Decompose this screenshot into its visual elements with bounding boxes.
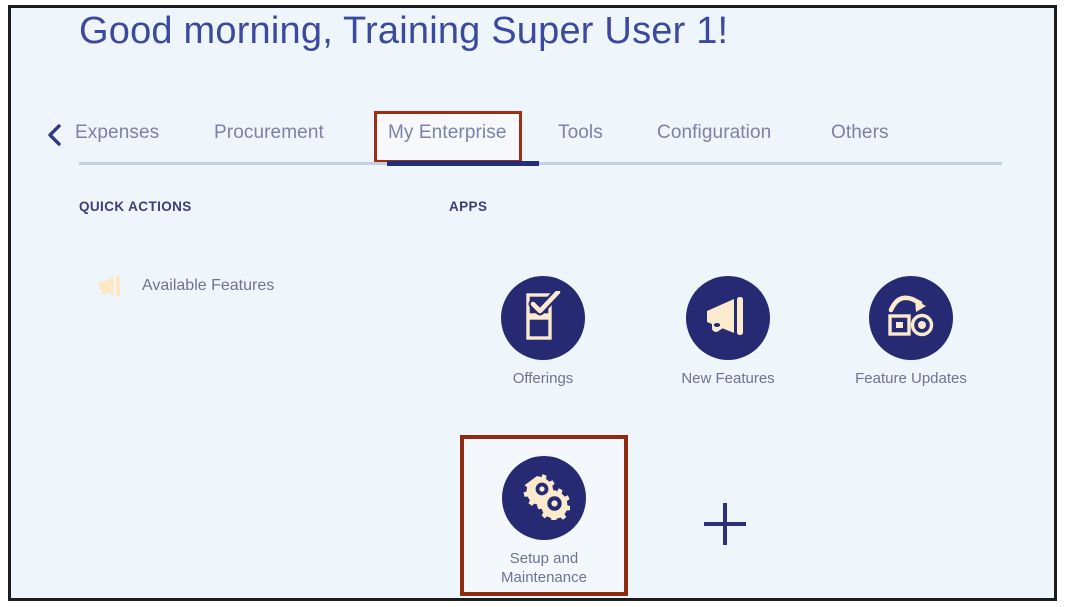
app-label-line-1: Setup and bbox=[466, 549, 622, 568]
tab-configuration[interactable]: Configuration bbox=[655, 118, 773, 148]
checklist-icon bbox=[521, 291, 565, 346]
app-label-line-2: Maintenance bbox=[466, 568, 622, 587]
navigation-tabbar: Expenses Procurement My Enterprise Tools… bbox=[11, 108, 1054, 170]
app-icon-circle bbox=[501, 276, 585, 360]
app-tile-offerings[interactable]: Offerings bbox=[465, 276, 621, 388]
megaphone-icon bbox=[703, 295, 753, 342]
refresh-shapes-icon bbox=[885, 293, 937, 344]
megaphone-icon bbox=[91, 266, 133, 306]
quick-action-available-features[interactable]: Available Features bbox=[91, 266, 274, 306]
app-label: New Features bbox=[650, 369, 806, 388]
active-tab-indicator bbox=[387, 161, 539, 166]
tab-expenses[interactable]: Expenses bbox=[73, 118, 161, 148]
app-icon-circle bbox=[869, 276, 953, 360]
tab-procurement[interactable]: Procurement bbox=[212, 118, 326, 148]
add-app-button[interactable] bbox=[699, 498, 751, 550]
app-label: Offerings bbox=[465, 369, 621, 388]
tab-tools[interactable]: Tools bbox=[556, 118, 605, 148]
app-tile-feature-updates[interactable]: Feature Updates bbox=[833, 276, 989, 388]
plus-icon bbox=[699, 537, 751, 554]
gears-icon bbox=[518, 472, 570, 525]
quick-action-label: Available Features bbox=[142, 277, 274, 295]
app-icon-circle bbox=[502, 456, 586, 540]
tabbar-divider bbox=[79, 162, 1002, 165]
app-tile-new-features[interactable]: New Features bbox=[650, 276, 806, 388]
page-title: Good morning, Training Super User 1! bbox=[79, 10, 728, 53]
chevron-left-icon[interactable] bbox=[44, 122, 66, 148]
tab-my-enterprise[interactable]: My Enterprise bbox=[386, 118, 509, 148]
app-label: Setup and Maintenance bbox=[466, 549, 622, 587]
app-icon-circle bbox=[686, 276, 770, 360]
app-label: Feature Updates bbox=[833, 369, 989, 388]
apps-heading: APPS bbox=[449, 199, 487, 214]
tab-others[interactable]: Others bbox=[829, 118, 891, 148]
app-tile-setup-and-maintenance[interactable]: Setup and Maintenance bbox=[466, 456, 622, 587]
application-window: Good morning, Training Super User 1! Exp… bbox=[8, 5, 1057, 601]
quick-actions-heading: QUICK ACTIONS bbox=[79, 199, 192, 214]
